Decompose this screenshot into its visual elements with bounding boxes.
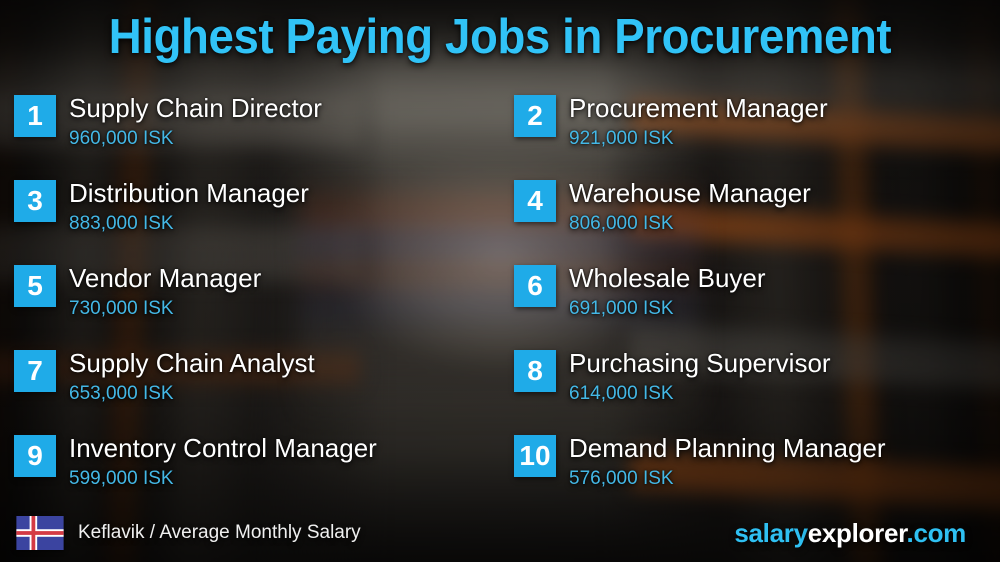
job-entry-3[interactable]: 3 Distribution Manager 883,000 ISK bbox=[0, 173, 500, 258]
job-entry-9[interactable]: 9 Inventory Control Manager 599,000 ISK bbox=[0, 428, 500, 513]
ranking-row: 5 Vendor Manager 730,000 ISK 6 Wholesale… bbox=[0, 258, 1000, 343]
job-salary: 883,000 ISK bbox=[69, 211, 309, 237]
footer: Keflavik / Average Monthly Salary salary… bbox=[0, 504, 1000, 562]
iceland-flag-icon bbox=[16, 516, 64, 550]
job-entry-7[interactable]: 7 Supply Chain Analyst 653,000 ISK bbox=[0, 343, 500, 428]
ranking-row: 7 Supply Chain Analyst 653,000 ISK 8 Pur… bbox=[0, 343, 1000, 428]
job-entry-1[interactable]: 1 Supply Chain Director 960,000 ISK bbox=[0, 88, 500, 173]
rank-badge: 8 bbox=[514, 350, 556, 392]
rank-badge: 5 bbox=[14, 265, 56, 307]
job-entry-2[interactable]: 2 Procurement Manager 921,000 ISK bbox=[500, 88, 1000, 173]
rank-badge: 3 bbox=[14, 180, 56, 222]
job-salary: 653,000 ISK bbox=[69, 381, 315, 407]
job-entry-5[interactable]: 5 Vendor Manager 730,000 ISK bbox=[0, 258, 500, 343]
brand-part-explorer: explorer bbox=[808, 518, 907, 548]
job-ranking-grid: 1 Supply Chain Director 960,000 ISK 2 Pr… bbox=[0, 88, 1000, 513]
rank-badge: 2 bbox=[514, 95, 556, 137]
ranking-row: 9 Inventory Control Manager 599,000 ISK … bbox=[0, 428, 1000, 513]
job-title: Procurement Manager bbox=[569, 92, 828, 125]
brand-logo[interactable]: salaryexplorer.com bbox=[734, 518, 1000, 549]
job-salary: 730,000 ISK bbox=[69, 296, 261, 322]
job-salary: 960,000 ISK bbox=[69, 126, 322, 152]
job-entry-10[interactable]: 10 Demand Planning Manager 576,000 ISK bbox=[500, 428, 1000, 513]
footer-location: Keflavik / Average Monthly Salary bbox=[0, 516, 361, 550]
rank-badge: 7 bbox=[14, 350, 56, 392]
brand-part-salary: salary bbox=[734, 518, 807, 548]
job-title: Supply Chain Analyst bbox=[69, 347, 315, 380]
rank-badge: 6 bbox=[514, 265, 556, 307]
job-title: Warehouse Manager bbox=[569, 177, 811, 210]
job-title: Wholesale Buyer bbox=[569, 262, 766, 295]
rank-badge: 10 bbox=[514, 435, 556, 477]
job-salary: 576,000 ISK bbox=[569, 466, 886, 492]
job-title: Purchasing Supervisor bbox=[569, 347, 831, 380]
job-salary: 614,000 ISK bbox=[569, 381, 831, 407]
job-title: Supply Chain Director bbox=[69, 92, 322, 125]
job-entry-6[interactable]: 6 Wholesale Buyer 691,000 ISK bbox=[500, 258, 1000, 343]
rank-badge: 4 bbox=[514, 180, 556, 222]
job-entry-8[interactable]: 8 Purchasing Supervisor 614,000 ISK bbox=[500, 343, 1000, 428]
job-salary: 806,000 ISK bbox=[569, 211, 811, 237]
footer-caption: Keflavik / Average Monthly Salary bbox=[78, 522, 361, 544]
job-title: Demand Planning Manager bbox=[569, 432, 886, 465]
brand-part-tld: .com bbox=[907, 518, 966, 548]
rank-badge: 9 bbox=[14, 435, 56, 477]
job-salary: 921,000 ISK bbox=[569, 126, 828, 152]
job-salary: 599,000 ISK bbox=[69, 466, 377, 492]
job-title: Inventory Control Manager bbox=[69, 432, 377, 465]
job-title: Distribution Manager bbox=[69, 177, 309, 210]
job-salary: 691,000 ISK bbox=[569, 296, 766, 322]
infographic-poster: Highest Paying Jobs in Procurement 1 Sup… bbox=[0, 0, 1000, 562]
job-title: Vendor Manager bbox=[69, 262, 261, 295]
job-entry-4[interactable]: 4 Warehouse Manager 806,000 ISK bbox=[500, 173, 1000, 258]
page-title: Highest Paying Jobs in Procurement bbox=[35, 9, 965, 65]
rank-badge: 1 bbox=[14, 95, 56, 137]
ranking-row: 3 Distribution Manager 883,000 ISK 4 War… bbox=[0, 173, 1000, 258]
ranking-row: 1 Supply Chain Director 960,000 ISK 2 Pr… bbox=[0, 88, 1000, 173]
